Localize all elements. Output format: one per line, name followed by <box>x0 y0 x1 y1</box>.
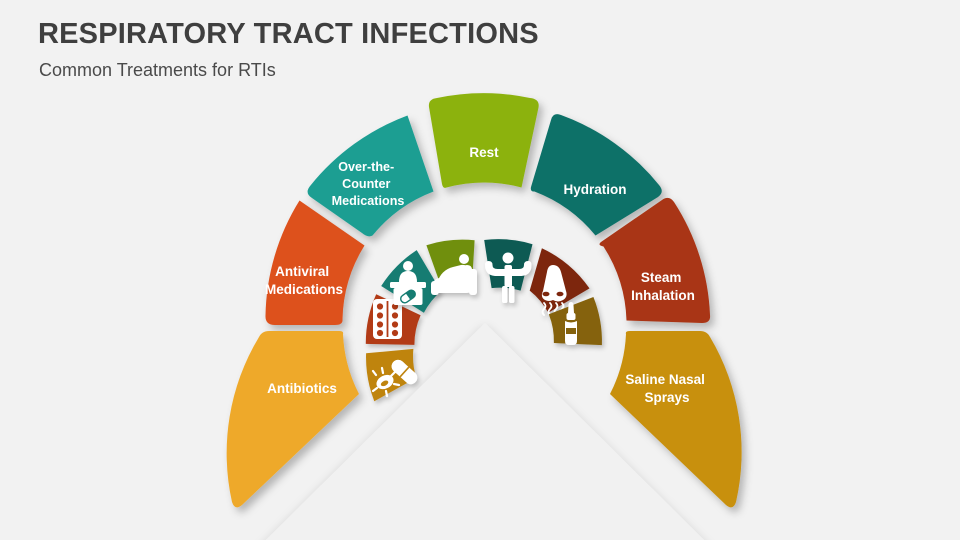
segment-rest-shape[interactable] <box>429 93 539 188</box>
segment-otc-medications-shape[interactable] <box>308 116 434 237</box>
inner-segment-hydration[interactable] <box>484 239 532 303</box>
inner-segment-antibiotics[interactable] <box>366 349 420 401</box>
segment-otc-medications[interactable]: Over-the- Counter Medications <box>308 116 434 237</box>
inner-segment-rest[interactable] <box>426 240 477 295</box>
page-title: RESPIRATORY TRACT INFECTIONS <box>38 18 539 51</box>
treatments-fan-diagram: Antiviral Medications Over-the- Counter … <box>180 75 800 535</box>
segment-rest[interactable]: Rest <box>429 93 539 188</box>
slide-canvas: RESPIRATORY TRACT INFECTIONS Common Trea… <box>0 0 960 540</box>
